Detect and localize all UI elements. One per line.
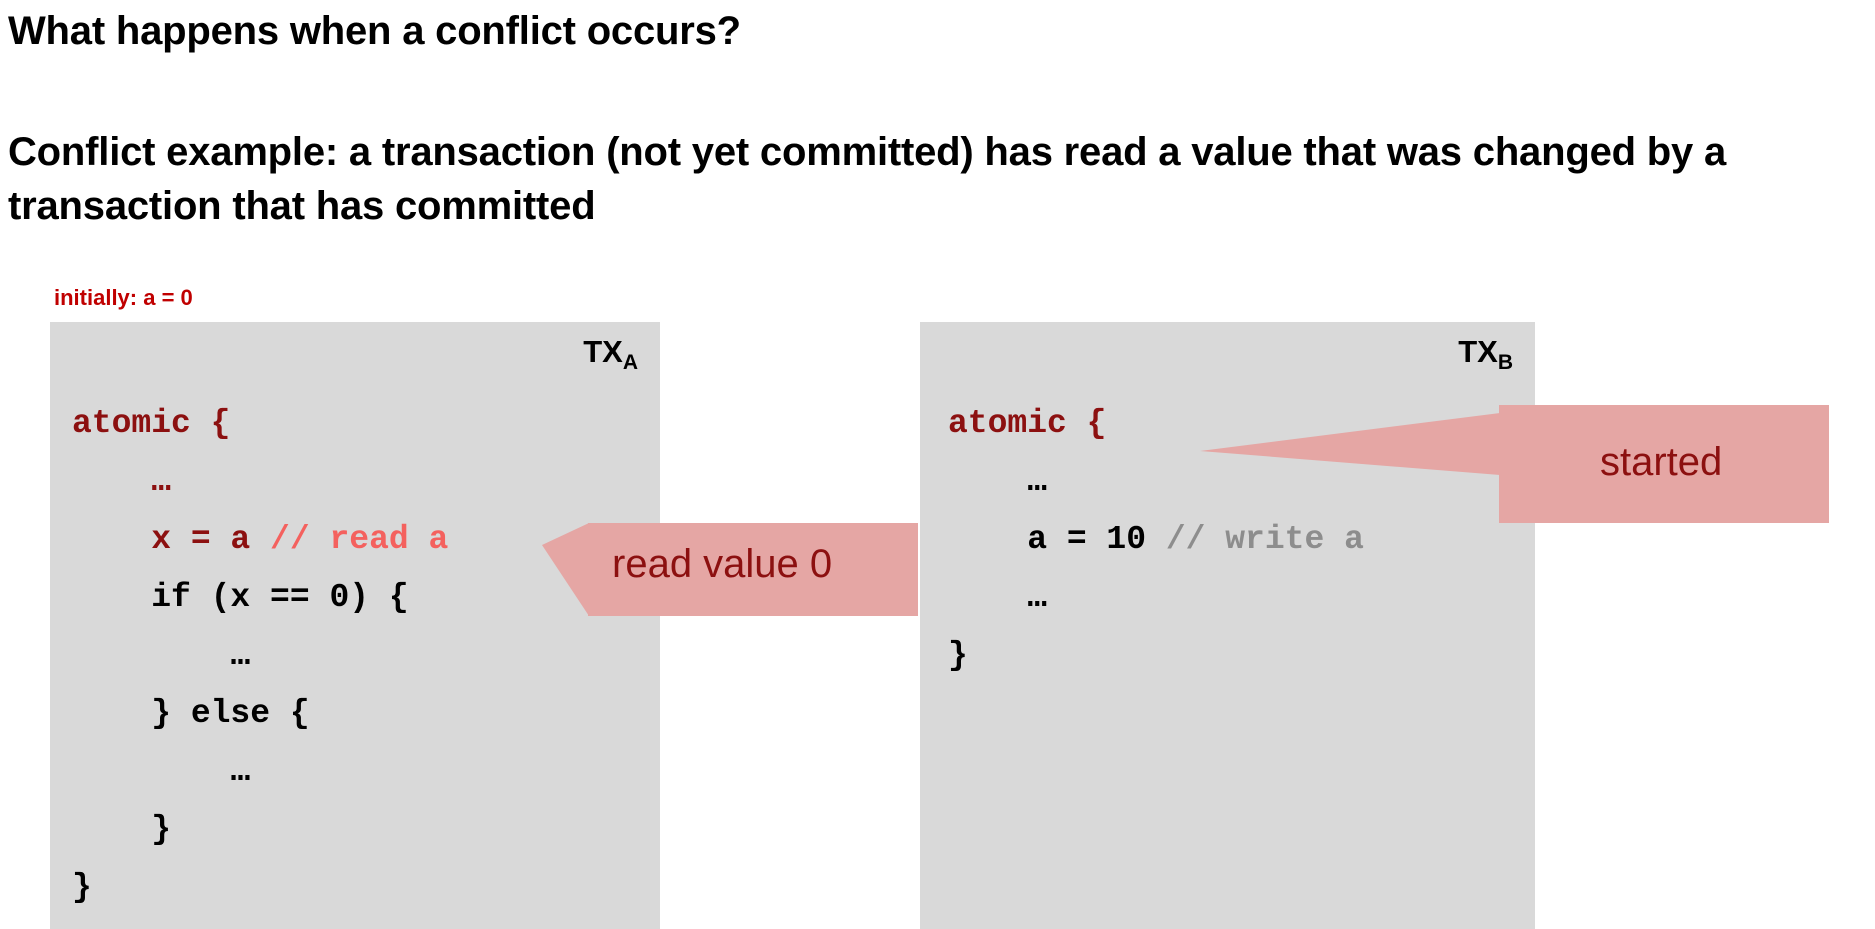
code-line: … <box>72 453 660 511</box>
code-line: } <box>72 859 660 917</box>
code-token: … <box>1027 579 1047 616</box>
code-token: atomic { <box>72 405 230 442</box>
code-token: } else { <box>151 695 309 732</box>
code-token: x = a <box>151 521 270 558</box>
callout-started-label: started <box>1600 440 1722 485</box>
code-token: } <box>948 637 968 674</box>
code-block-tx-a: atomic { … x = a // read a if (x == 0) {… <box>50 322 660 917</box>
code-line: … <box>72 627 660 685</box>
code-token: … <box>230 753 250 790</box>
code-token: // write a <box>1166 521 1364 558</box>
code-token: // read a <box>270 521 448 558</box>
callout-read-value-label: read value 0 <box>612 542 832 587</box>
code-token: if (x == 0) { <box>151 579 408 616</box>
code-line: } <box>948 627 1535 685</box>
code-line: } <box>72 801 660 859</box>
code-line: } else { <box>72 685 660 743</box>
code-line: … <box>948 569 1535 627</box>
callout-started-pointer <box>1200 405 1500 523</box>
code-token: } <box>72 869 92 906</box>
code-panel-tx-a: TXA atomic { … x = a // read a if (x == … <box>50 322 660 929</box>
page-subtitle: Conflict example: a transaction (not yet… <box>8 125 1838 233</box>
page-title: What happens when a conflict occurs? <box>8 8 1848 54</box>
code-token: a = 10 <box>1027 521 1166 558</box>
code-token: … <box>1027 463 1047 500</box>
code-token: … <box>230 637 250 674</box>
initially-label: initially: a = 0 <box>54 285 193 311</box>
code-line: … <box>72 743 660 801</box>
code-token: … <box>151 463 171 500</box>
code-line: atomic { <box>72 395 660 453</box>
code-token: } <box>151 811 171 848</box>
code-token: atomic { <box>948 405 1106 442</box>
slide-canvas: What happens when a conflict occurs? Con… <box>0 0 1875 929</box>
callout-read-value-pointer <box>542 523 589 616</box>
